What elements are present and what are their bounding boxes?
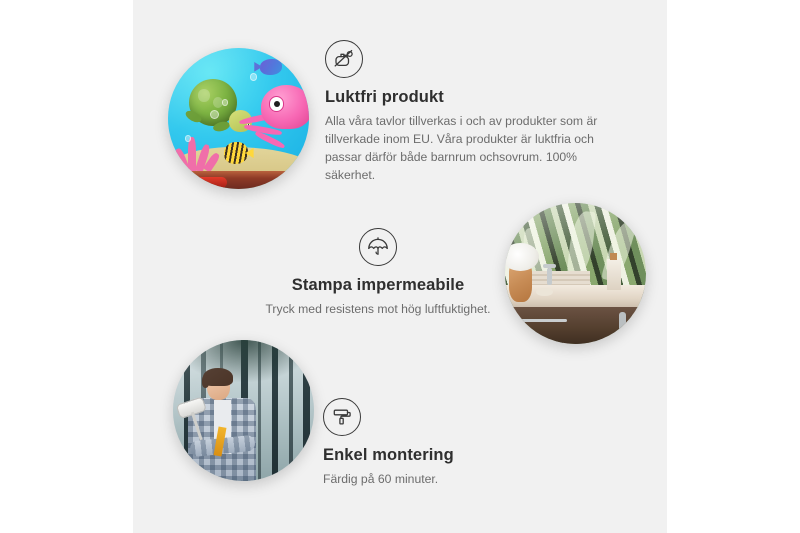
bubble-icon [222,99,229,106]
feature-icon-wrap [323,398,613,436]
roller-handle [190,411,202,440]
feature-title: Enkel montering [323,446,613,465]
soap-dispenser [607,259,621,290]
no-fragrance-icon [325,40,363,78]
octopus-eye [269,96,284,111]
coral-illustration [176,130,224,172]
underwater-cartoon-photo [168,48,309,189]
sea-turtle-illustration [184,79,249,133]
underwater-scene [168,48,309,189]
hair [203,368,233,386]
bathroom-wallpaper-photo [505,203,646,344]
soap-dish [536,288,553,296]
feature-icon-wrap [325,40,615,78]
umbrella-icon [359,228,397,266]
product-benefits-page: Luktfri produkt Alla våra tavlor tillver… [0,0,800,533]
octopus-illustration [250,85,309,148]
content-panel: Luktfri produkt Alla våra tavlor tillver… [133,0,667,533]
woman-figure [184,368,271,481]
blue-fish-illustration [260,59,283,75]
bubble-icon [185,135,191,141]
bathroom-scene [505,203,646,344]
feature-icon-wrap [208,228,548,266]
feature-waterproof: Stampa impermeabile Tryck med resistens … [208,228,548,318]
feature-description: Alla våra tavlor tillverkas i och av pro… [325,112,615,184]
ocean-foreground-strip [168,171,309,189]
coral-branch [188,137,196,173]
feature-title: Stampa impermeabile [208,276,548,295]
paint-roller-icon [323,398,361,436]
wooden-vanity-cabinet [505,307,646,344]
white-flowers [505,243,539,271]
faucet [547,268,551,285]
feature-title: Luktfri produkt [325,88,615,107]
installer-with-roller-photo [173,340,314,481]
feature-odourless: Luktfri produkt Alla våra tavlor tillver… [325,40,615,184]
feature-description: Tryck med resistens mot hög luftfuktighe… [208,300,548,318]
yellow-fish-illustration [224,142,248,163]
feature-assembly: Enkel montering Färdig på 60 minuter. [323,398,613,488]
octopus-head [261,85,309,129]
installer-scene [173,340,314,481]
feature-description: Färdig på 60 minuter. [323,470,613,488]
